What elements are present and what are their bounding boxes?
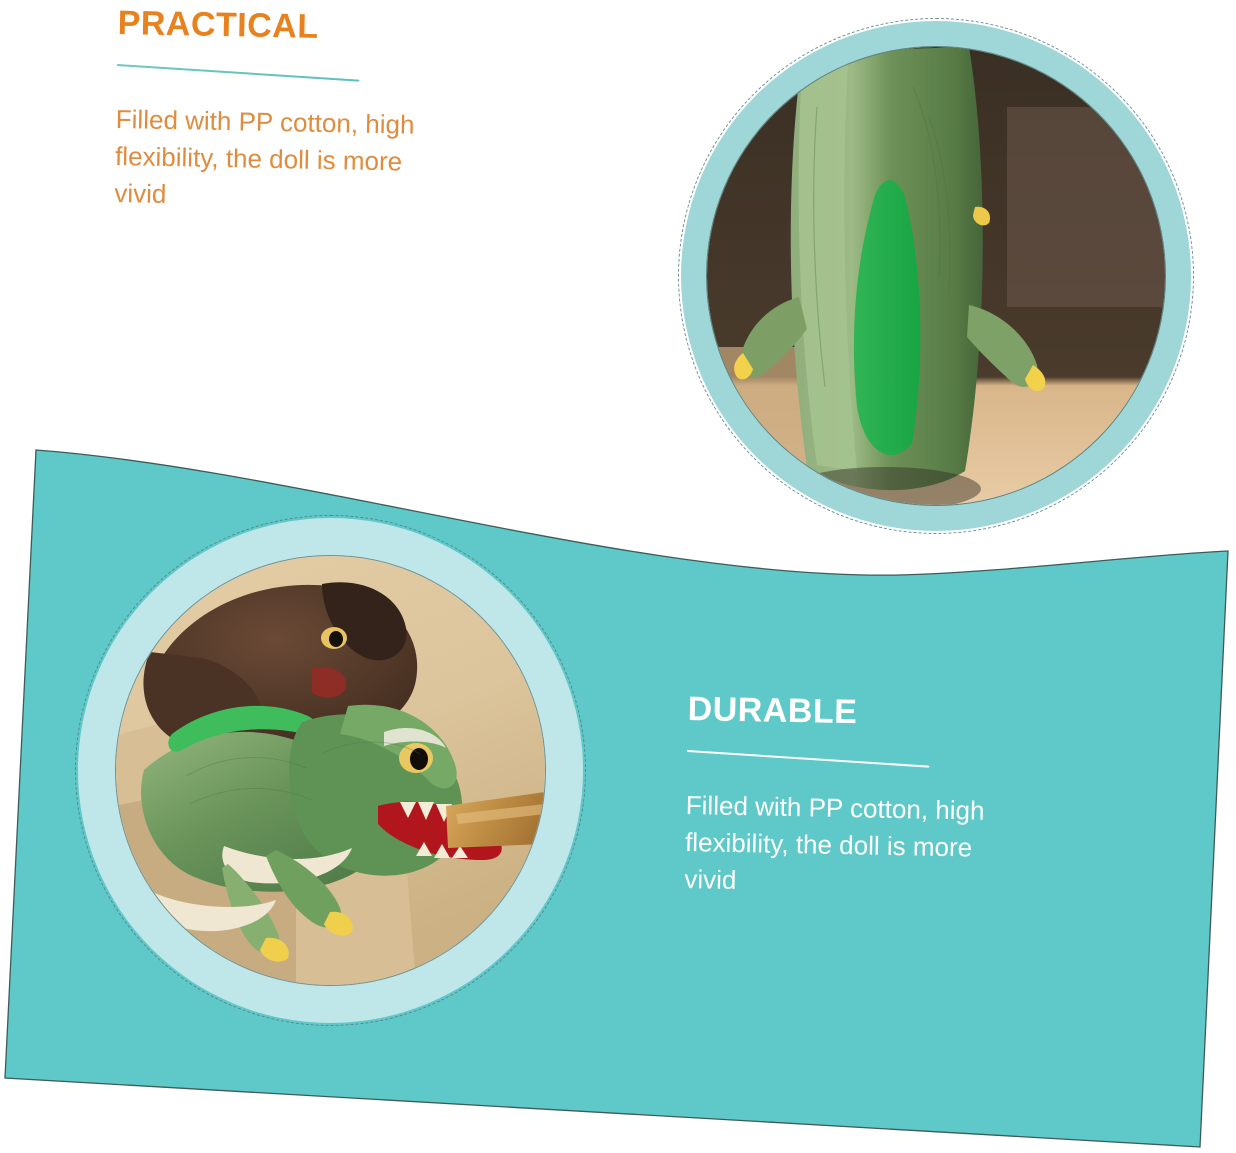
feature-block-durable: DURABLE Filled with PP cotton, high flex… xyxy=(684,692,1128,932)
feature-title-durable: DURABLE xyxy=(687,692,1128,736)
feature-body-practical: Filled with PP cotton, high flexibility,… xyxy=(114,101,586,221)
feature-block-practical: PRACTICAL Filled with PP cotton, high fl… xyxy=(114,6,588,246)
product-photo-medallion-bottom xyxy=(78,518,583,1023)
product-photo-bottom xyxy=(116,556,545,985)
product-photo-medallion-top xyxy=(681,21,1191,531)
product-photo-top xyxy=(707,47,1165,505)
feature-body-durable: Filled with PP cotton, high flexibility,… xyxy=(684,787,1126,906)
feature-divider-durable xyxy=(687,750,930,768)
infographic-canvas: PRACTICAL Filled with PP cotton, high fl… xyxy=(0,0,1236,1153)
feature-divider-practical xyxy=(117,64,360,82)
feature-title-practical: PRACTICAL xyxy=(117,6,588,51)
